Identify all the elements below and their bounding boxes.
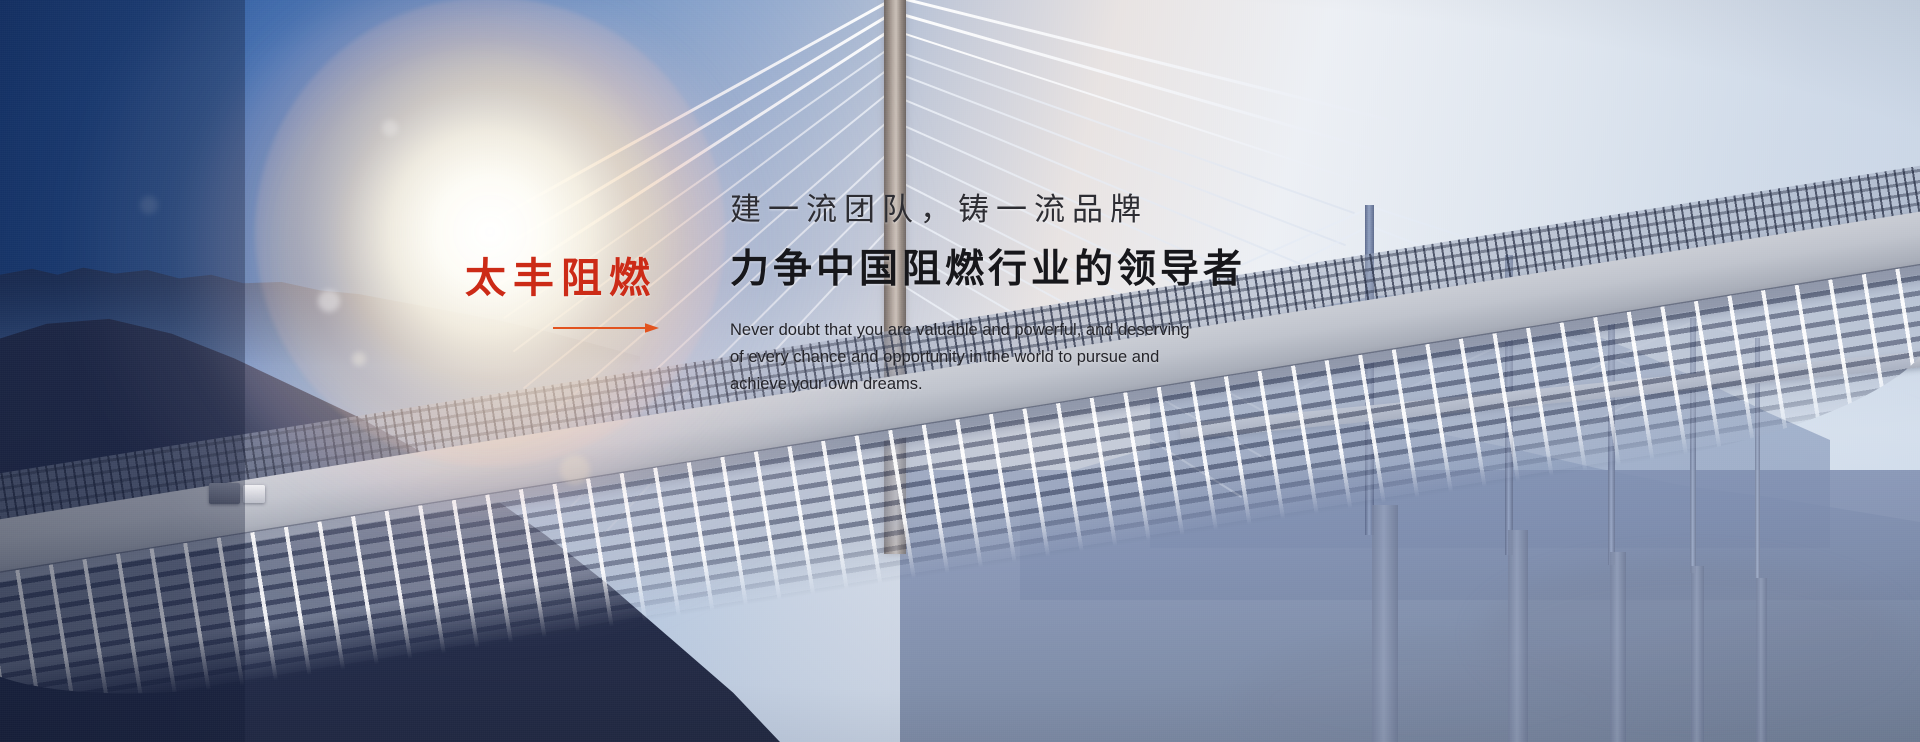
- subcopy-line: Never doubt that you are valuable and po…: [730, 317, 1200, 344]
- hero-banner: 太丰阻燃 建一流团队，铸一流品牌 力争中国阻燃行业的领导者 Never doub…: [0, 0, 1920, 742]
- subcopy-line: of every chance and opportunity in the w…: [730, 344, 1200, 371]
- lens-flare-fleck: [140, 196, 158, 214]
- headline-primary: 建一流团队，铸一流品牌: [730, 191, 1490, 230]
- stay-cable: [902, 13, 1374, 151]
- headline-secondary: 力争中国阻燃行业的领导者: [730, 246, 1490, 295]
- sun-glow: [255, 0, 725, 467]
- brand-logo[interactable]: 太丰阻燃: [465, 258, 660, 333]
- lens-flare-fleck: [382, 120, 398, 136]
- subcopy-paragraph: Never doubt that you are valuable and po…: [730, 317, 1200, 398]
- stay-cable: [902, 52, 1355, 214]
- arrow-right-icon: [553, 321, 660, 333]
- brand-logo-text: 太丰阻燃: [465, 258, 660, 299]
- hero-copy: 建一流团队，铸一流品牌 力争中国阻燃行业的领导者 Never doubt tha…: [730, 191, 1490, 398]
- lens-flare-fleck: [318, 290, 340, 312]
- subcopy-line: achieve your own dreams.: [730, 371, 1200, 398]
- lens-flare-fleck: [560, 455, 590, 485]
- lens-flare-fleck: [352, 352, 366, 366]
